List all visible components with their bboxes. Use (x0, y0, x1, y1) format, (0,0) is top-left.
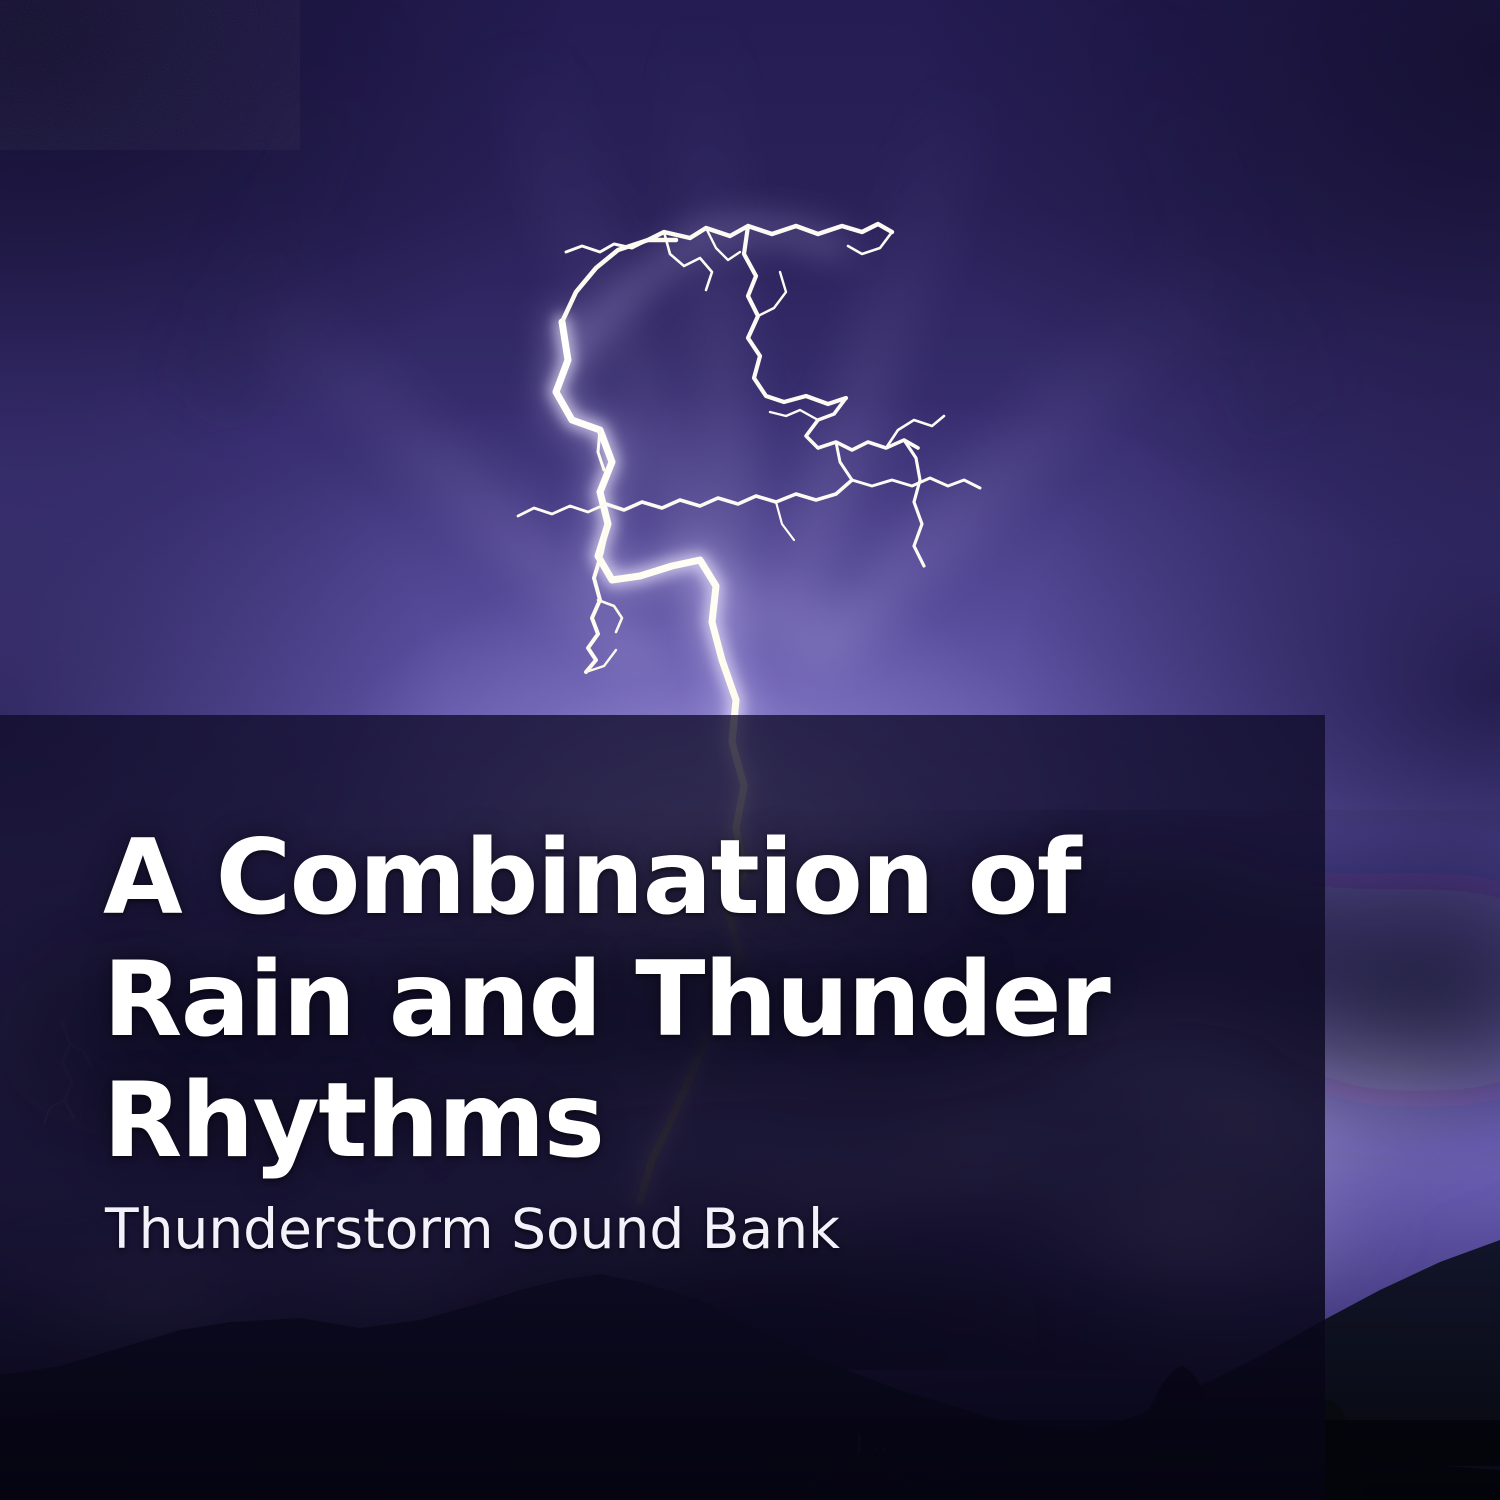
album-title: A Combination of Rain and Thunder Rhythm… (103, 818, 1223, 1183)
cover-text-block: A Combination of Rain and Thunder Rhythm… (103, 818, 1223, 1259)
artist-name: Thunderstorm Sound Bank (105, 1199, 1223, 1260)
album-cover-artwork: A Combination of Rain and Thunder Rhythm… (0, 0, 1500, 1500)
